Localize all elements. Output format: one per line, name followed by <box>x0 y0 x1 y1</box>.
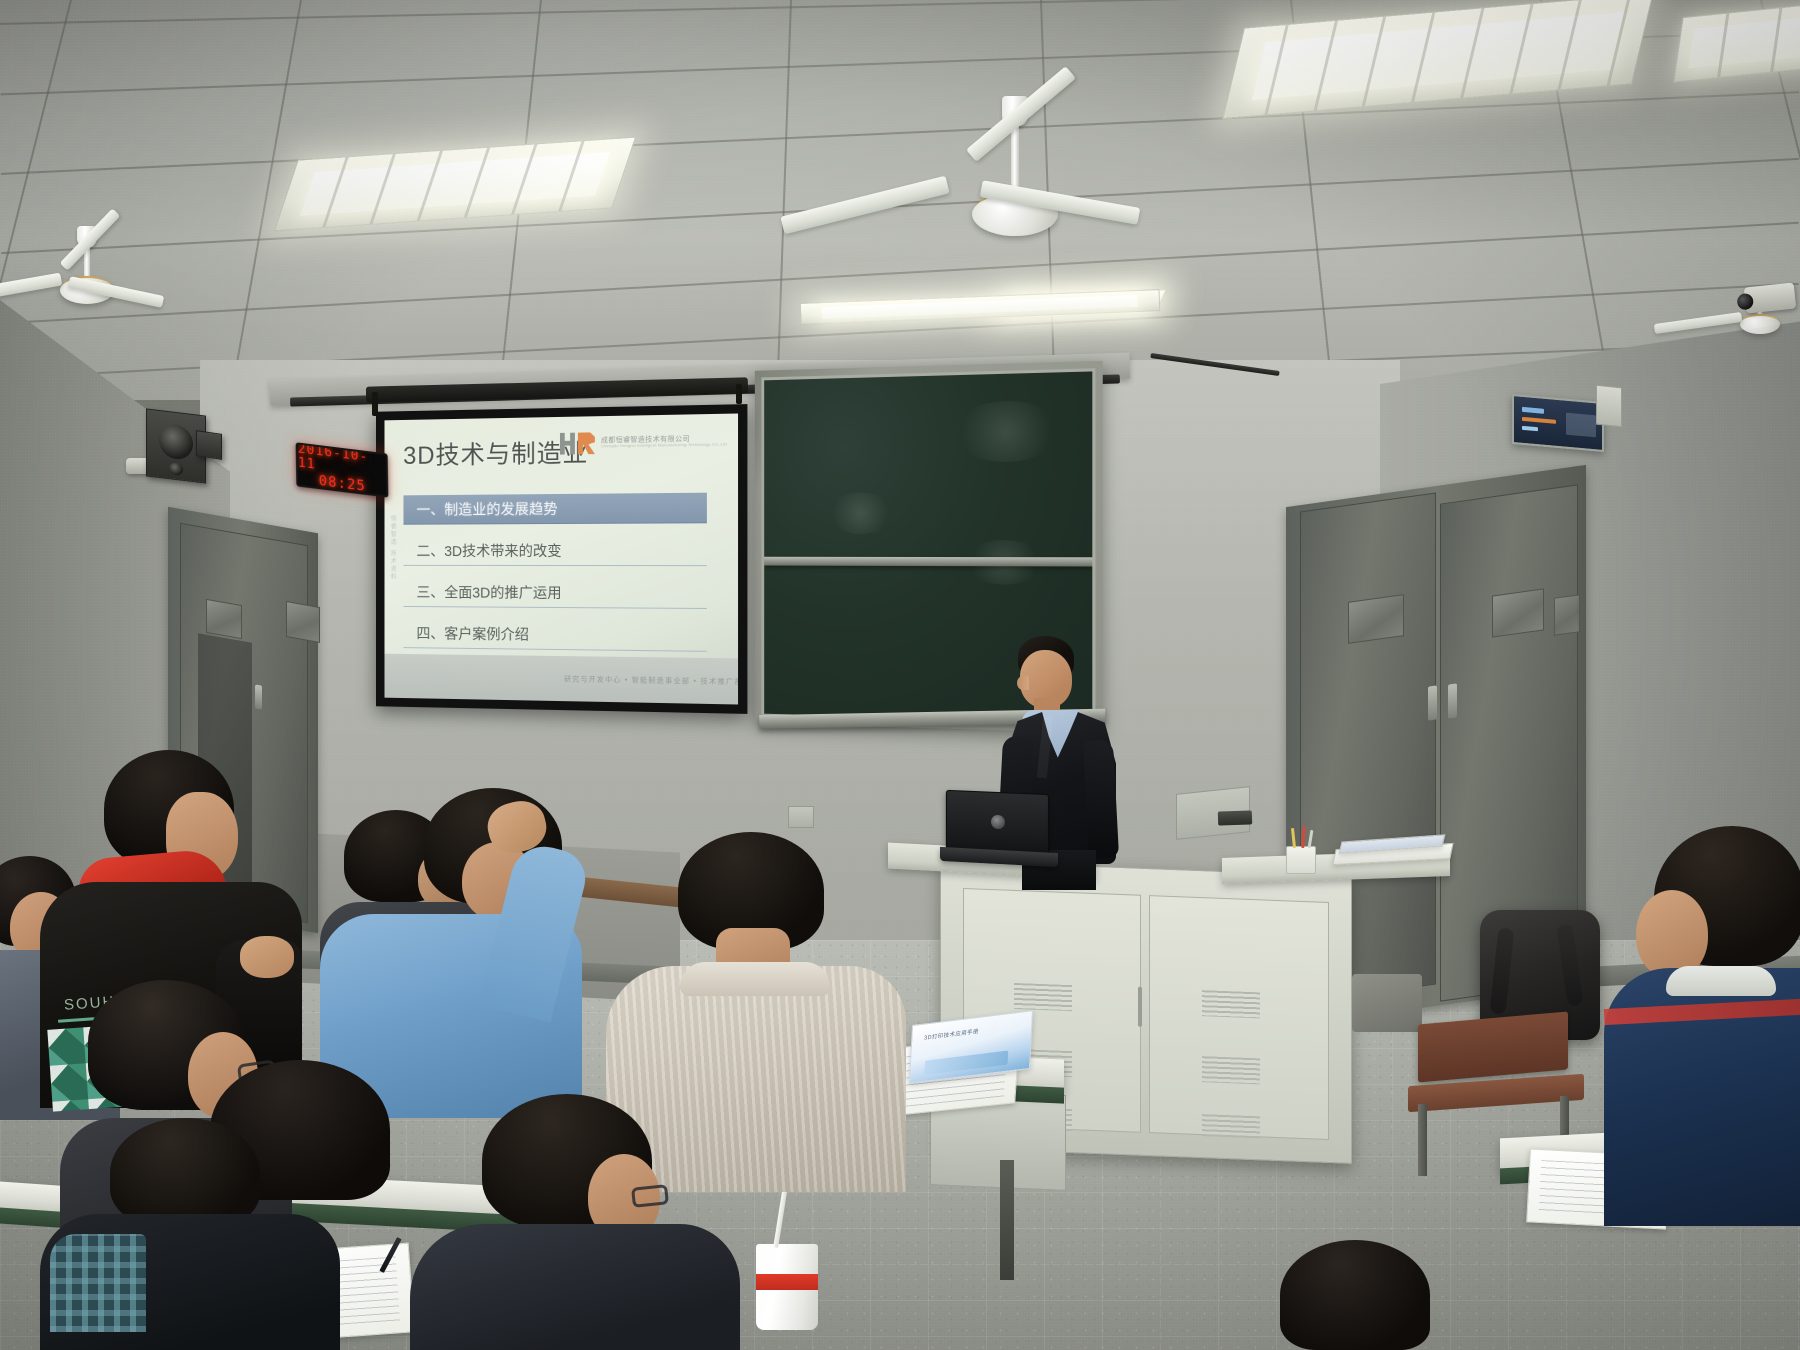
panel-indicator-led <box>1522 426 1538 431</box>
left-door-window <box>206 599 242 639</box>
wall-control-panel[interactable] <box>1512 394 1604 452</box>
cctv-camera <box>1744 282 1796 313</box>
backpack-strap <box>1490 927 1515 1014</box>
cup-brand-band <box>756 1274 818 1290</box>
logo-company-name-en: Chengdu Hengrui Intelligent Manufacturin… <box>601 443 727 449</box>
company-logo: 成都恒睿智造技术有限公司 Chengdu Hengrui Intelligent… <box>560 430 727 455</box>
student-desk-frame <box>1000 1160 1014 1280</box>
laptop-brand-logo-icon <box>991 815 1005 829</box>
drink-cup[interactable] <box>756 1244 818 1330</box>
panel-indicator-led <box>1522 407 1544 414</box>
student-8 <box>410 1094 740 1350</box>
agenda-item-2[interactable]: 二、3D技术带来的改变 <box>403 535 707 566</box>
booklet-cover-graphic <box>925 1050 1009 1075</box>
student-9 <box>1620 826 1800 1226</box>
student-10-hair <box>1280 1240 1430 1350</box>
chair-leg <box>1418 1104 1427 1176</box>
student-8-garment <box>410 1224 740 1350</box>
podium-door-right[interactable] <box>1149 895 1329 1140</box>
left-door-window <box>286 601 320 643</box>
agenda-item-3[interactable]: 三、全面3D的推广运用 <box>403 577 707 608</box>
agenda-item-4[interactable]: 四、客户案例介绍 <box>403 618 707 651</box>
student-2-hand <box>240 936 294 978</box>
pen-holder[interactable] <box>1286 846 1316 874</box>
classroom-photograph: 3D技术与制造业 成都恒睿智造技术有限公司 Chengdu Hengrui In… <box>0 0 1800 1350</box>
right-door-window <box>1348 594 1404 644</box>
panel-indicator-led <box>1566 413 1596 438</box>
podium-vent <box>1202 1056 1260 1084</box>
student-8-glasses-icon <box>631 1184 669 1208</box>
projection-screen[interactable]: 3D技术与制造业 成都恒睿智造技术有限公司 Chengdu Hengrui In… <box>376 404 747 714</box>
student-4 <box>50 1118 350 1350</box>
backpack-strap <box>1556 923 1583 1006</box>
ceiling-fan <box>900 96 1130 256</box>
right-door-window-lower <box>1554 594 1580 636</box>
podium-vent <box>1202 990 1260 1018</box>
logo-letter-h-icon <box>560 432 575 454</box>
chair-backrest <box>1418 1011 1568 1082</box>
slide-sidebar-note: 恒睿智造 技术资料 <box>389 515 398 581</box>
blackboard-divider <box>764 557 1092 567</box>
blackboard-eraser[interactable] <box>1218 810 1252 825</box>
ceiling-fan <box>12 226 162 336</box>
wall-bracket <box>1596 385 1622 428</box>
right-door-handle[interactable] <box>1448 683 1457 718</box>
podium-vent <box>1014 983 1072 1011</box>
student-7-collar <box>680 962 830 996</box>
podium-vent <box>1202 1114 1260 1138</box>
booklet-title: 3D打印技术应用手册 <box>924 1027 979 1042</box>
presenter-arm-right <box>1083 739 1119 858</box>
right-door-handle[interactable] <box>1428 685 1437 720</box>
wall-speaker <box>196 430 222 460</box>
slide-agenda-list: 一、制造业的发展趋势 二、3D技术带来的改变 三、全面3D的推广运用 四、客户案… <box>403 492 707 663</box>
student-4-plaid-collar <box>50 1234 146 1332</box>
presenter-profile <box>1017 676 1029 690</box>
left-door-handle[interactable] <box>255 684 262 709</box>
student-10 <box>1270 1240 1470 1350</box>
presentation-slide: 3D技术与制造业 成都恒睿智造技术有限公司 Chengdu Hengrui In… <box>384 413 738 704</box>
podium-handle[interactable] <box>1138 987 1142 1027</box>
laptop-screen[interactable] <box>946 790 1049 856</box>
right-door-window <box>1492 588 1544 637</box>
screen-bracket <box>736 384 742 404</box>
agenda-item-1[interactable]: 一、制造业的发展趋势 <box>403 492 707 524</box>
student-9-head <box>1636 890 1708 978</box>
panel-indicator-led <box>1522 417 1556 424</box>
logo-letter-r-icon <box>578 432 595 454</box>
student-4-hair <box>110 1118 260 1228</box>
wall-socket-panel[interactable] <box>788 806 814 828</box>
student-9-collar <box>1666 966 1776 996</box>
